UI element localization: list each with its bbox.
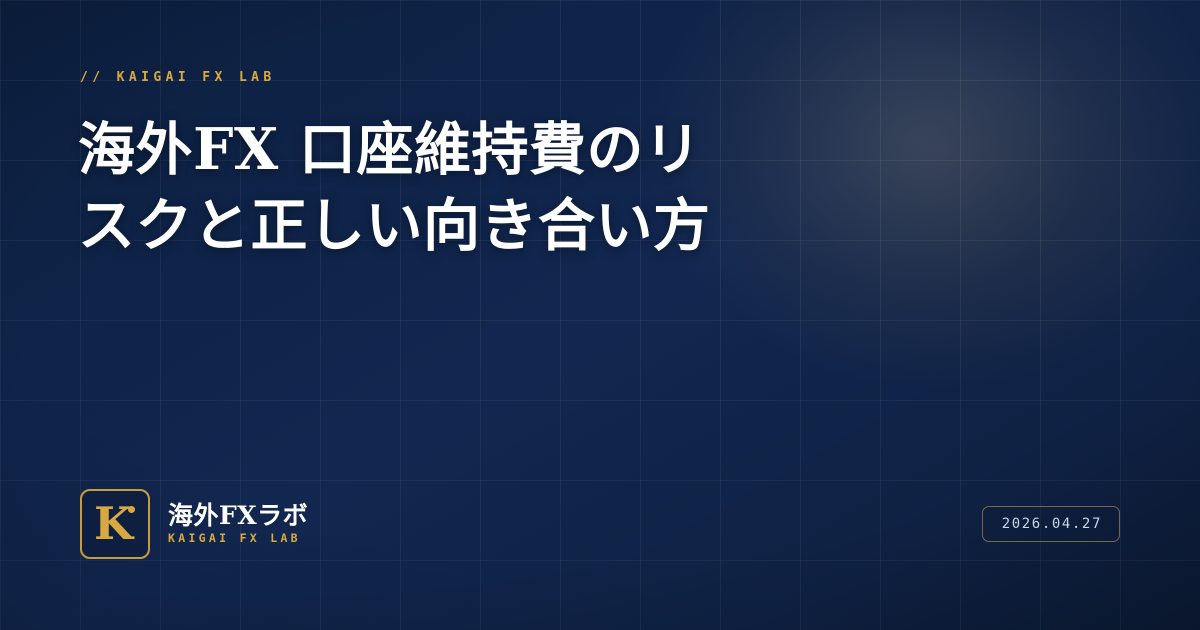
og-card: // KAIGAI FX LAB 海外FX 口座維持費のリスクと正しい向き合い方… <box>0 0 1200 630</box>
page-title: 海外FX 口座維持費のリスクと正しい向き合い方 <box>78 112 838 264</box>
date-badge: 2026.04.27 <box>982 506 1120 542</box>
card-content: // KAIGAI FX LAB 海外FX 口座維持費のリスクと正しい向き合い方… <box>0 0 1200 630</box>
logo-dot-icon <box>128 506 135 513</box>
brand-text-block: 海外FXラボ KAIGAI FX LAB <box>168 503 308 545</box>
logo-icon: K <box>80 489 150 559</box>
logo-letter: K <box>94 501 133 546</box>
title-line-1: 海外FX 口座維持費のリ <box>78 116 702 183</box>
brand-name: 海外FXラボ <box>168 503 308 528</box>
eyebrow-label: // KAIGAI FX LAB <box>80 70 276 85</box>
brand-subtitle: KAIGAI FX LAB <box>168 533 308 545</box>
brand-lockup: K 海外FXラボ KAIGAI FX LAB <box>80 489 308 559</box>
title-line-2: スクと正しい向き合い方 <box>78 192 711 259</box>
card-footer: K 海外FXラボ KAIGAI FX LAB 2026.04.27 <box>80 488 1120 560</box>
